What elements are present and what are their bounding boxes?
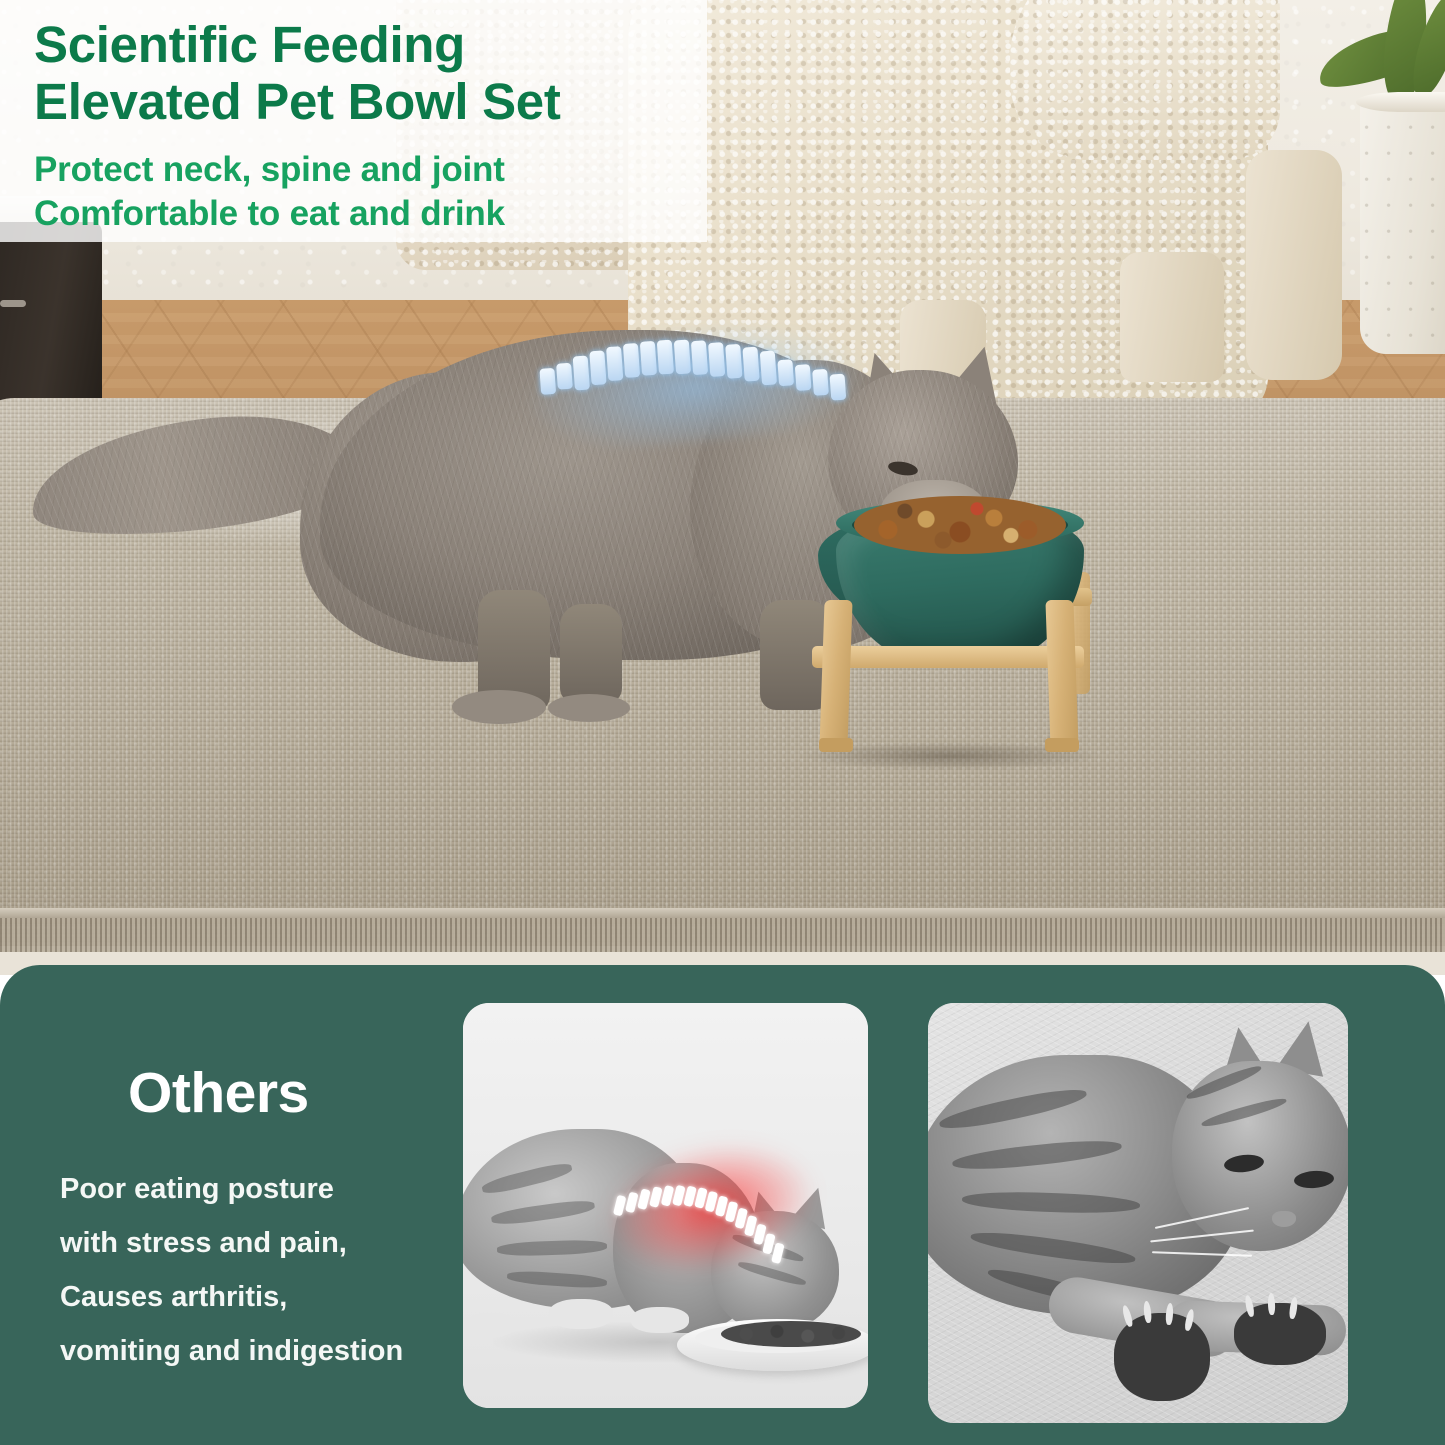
cat-paw-2	[548, 694, 630, 722]
cabinet-handle	[0, 300, 26, 307]
rug-fringe	[0, 918, 1445, 952]
page-subtitle: Protect neck, spine and joint Comfortabl…	[34, 148, 694, 236]
stand-leg-front-left	[819, 600, 852, 748]
panel-body-line-3: Causes arthritis,	[60, 1271, 460, 1325]
panel-body-line-1: Poor eating posture	[60, 1163, 460, 1217]
hero-text-overlay: Scientific Feeding Elevated Pet Bowl Set…	[0, 0, 707, 242]
hero-product-scene: Scientific Feeding Elevated Pet Bowl Set…	[0, 0, 1445, 975]
card-right-cat-nose	[1272, 1211, 1296, 1227]
panel-heading: Others	[128, 1060, 309, 1126]
stand-rail-front	[812, 646, 1084, 668]
armchair-leg-center	[1120, 252, 1224, 382]
title-line-1: Scientific Feeding	[34, 16, 694, 73]
plant-pot-rim	[1356, 92, 1445, 112]
panel-body-text: Poor eating posture with stress and pain…	[60, 1163, 460, 1379]
flat-plate-food	[721, 1321, 861, 1347]
plant-pot	[1360, 96, 1445, 354]
subtitle-line-2: Comfortable to eat and drink	[34, 192, 694, 236]
stand-foot-left	[819, 738, 853, 752]
dark-cabinet	[0, 222, 102, 422]
armchair-arm	[1010, 0, 1280, 160]
cat-paw-1	[452, 690, 546, 724]
inset-photo-sleeping-cat	[928, 1003, 1348, 1423]
armchair-leg-right	[1246, 150, 1342, 380]
title-line-2: Elevated Pet Bowl Set	[34, 73, 694, 130]
inset-photo-cat-eating-flat-plate	[463, 1003, 868, 1408]
stand-foot-right	[1045, 738, 1079, 752]
panel-body-line-4: vomiting and indigestion	[60, 1325, 460, 1379]
cat-front-leg-2	[560, 604, 622, 704]
stand-leg-front-right	[1045, 600, 1078, 748]
kibble-food	[854, 496, 1066, 554]
panel-body-line-2: with stress and pain,	[60, 1217, 460, 1271]
page-title: Scientific Feeding Elevated Pet Bowl Set	[34, 16, 694, 130]
subtitle-line-1: Protect neck, spine and joint	[34, 148, 694, 192]
